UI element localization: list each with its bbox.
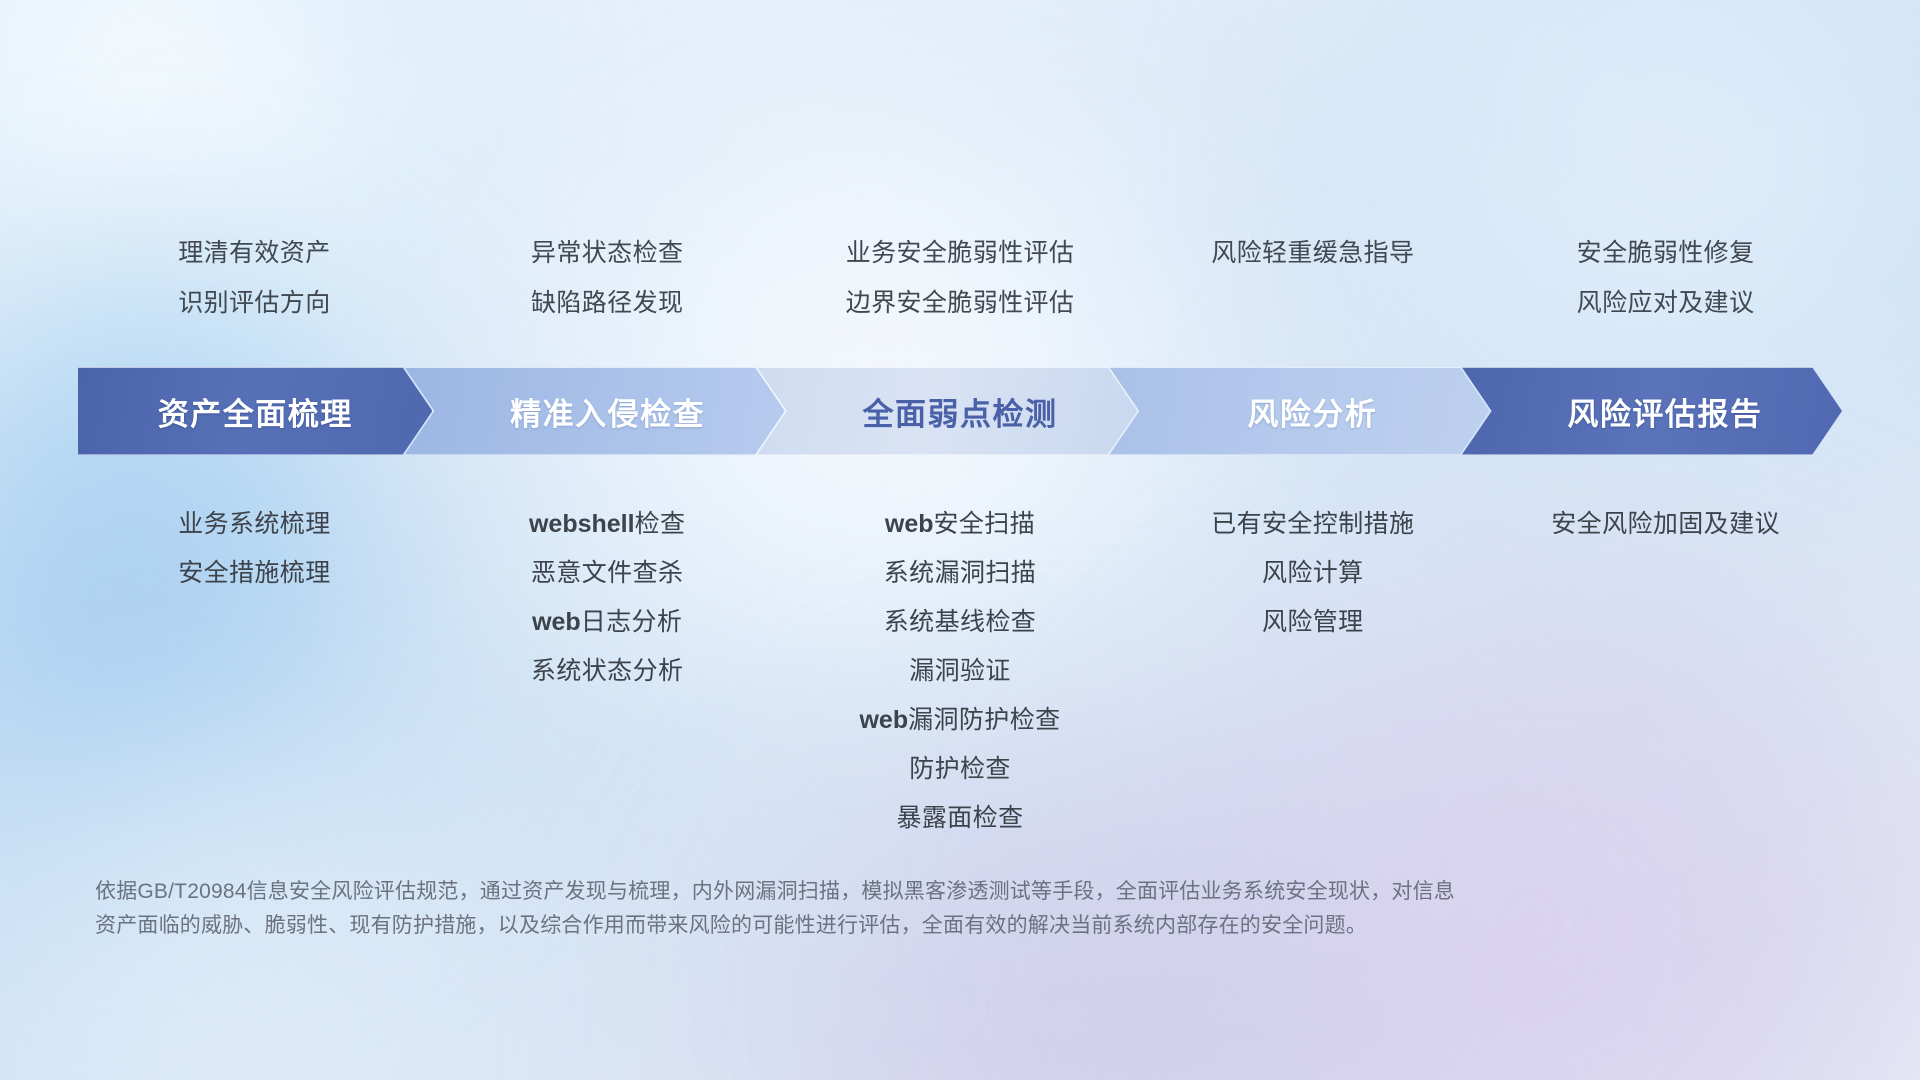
note-text: 系统基线检查: [784, 598, 1137, 647]
top-notes-risk-report: 安全脆弱性修复 风险应对及建议: [1489, 228, 1842, 328]
note-text: 恶意文件查杀: [431, 549, 784, 598]
caption-line-2: 资产面临的威胁、脆弱性、现有防护措施，以及综合作用而带来风险的可能性进行评估，全…: [95, 909, 1625, 943]
stage-arrow-label: 精准入侵检查: [510, 389, 705, 434]
stage-arrow-band: 资产全面梳理 精准入侵检查 全面弱点检测 风险分析 风险评估报告: [78, 367, 1842, 455]
note-text: 安全脆弱性修复: [1489, 228, 1842, 278]
note-text: web日志分析: [431, 598, 784, 647]
top-notes-weakness-detection: 业务安全脆弱性评估 边界安全脆弱性评估: [784, 228, 1137, 328]
stage-arrow-label: 全面弱点检测: [863, 389, 1058, 434]
note-text: 风险计算: [1136, 549, 1489, 598]
bottom-notes-weakness-detection: web安全扫描 系统漏洞扫描 系统基线检查 漏洞验证 web漏洞防护检查 防护检…: [784, 500, 1137, 843]
note-text: 系统状态分析: [431, 647, 784, 696]
note-text: 识别评估方向: [78, 278, 431, 328]
bottom-notes-risk-analysis: 已有安全控制措施 风险计算 风险管理: [1136, 500, 1489, 843]
note-text: 风险应对及建议: [1489, 278, 1842, 328]
note-text: 安全风险加固及建议: [1489, 500, 1842, 549]
note-text: 风险轻重缓急指导: [1136, 228, 1489, 278]
note-text: 风险管理: [1136, 598, 1489, 647]
note-text: 暴露面检查: [784, 794, 1137, 843]
stage-arrow-label: 风险分析: [1247, 389, 1377, 434]
bottom-notes-intrusion-check: webshell检查 恶意文件查杀 web日志分析 系统状态分析: [431, 500, 784, 843]
stage-arrow-weakness-detection[interactable]: 全面弱点检测: [757, 367, 1137, 455]
top-notes-intrusion-check: 异常状态检查 缺陷路径发现: [431, 228, 784, 328]
note-text: 缺陷路径发现: [431, 278, 784, 328]
note-text: 系统漏洞扫描: [784, 549, 1137, 598]
stage-arrow-label: 风险评估报告: [1567, 389, 1762, 434]
bottom-notes-asset-inventory: 业务系统梳理 安全措施梳理: [78, 500, 431, 843]
note-text: web安全扫描: [784, 500, 1137, 549]
stage-arrow-risk-report[interactable]: 风险评估报告: [1462, 367, 1842, 455]
top-notes-risk-analysis: 风险轻重缓急指导: [1136, 228, 1489, 328]
caption-block: 依据GB/T20984信息安全风险评估规范，通过资产发现与梳理，内外网漏洞扫描，…: [95, 875, 1625, 943]
process-diagram: 理清有效资产 识别评估方向 异常状态检查 缺陷路径发现 业务安全脆弱性评估 边界…: [0, 0, 1920, 1080]
note-text: 边界安全脆弱性评估: [784, 278, 1137, 328]
stage-arrow-label: 资产全面梳理: [158, 389, 353, 434]
note-text: 已有安全控制措施: [1136, 500, 1489, 549]
top-notes-row: 理清有效资产 识别评估方向 异常状态检查 缺陷路径发现 业务安全脆弱性评估 边界…: [78, 228, 1842, 328]
note-text: 理清有效资产: [78, 228, 431, 278]
note-text: 漏洞验证: [784, 647, 1137, 696]
note-text: webshell检查: [431, 500, 784, 549]
note-text: 业务系统梳理: [78, 500, 431, 549]
bottom-notes-risk-report: 安全风险加固及建议: [1489, 500, 1842, 843]
note-text: 防护检查: [784, 745, 1137, 794]
top-notes-asset-inventory: 理清有效资产 识别评估方向: [78, 228, 431, 328]
note-text: 异常状态检查: [431, 228, 784, 278]
stage-arrow-asset-inventory[interactable]: 资产全面梳理: [78, 367, 432, 455]
stage-arrow-intrusion-check[interactable]: 精准入侵检查: [404, 367, 784, 455]
bottom-notes-row: 业务系统梳理 安全措施梳理 webshell检查 恶意文件查杀 web日志分析 …: [78, 500, 1842, 843]
note-text: 业务安全脆弱性评估: [784, 228, 1137, 278]
stage-arrow-risk-analysis[interactable]: 风险分析: [1109, 367, 1489, 455]
note-text: web漏洞防护检查: [784, 696, 1137, 745]
caption-line-1: 依据GB/T20984信息安全风险评估规范，通过资产发现与梳理，内外网漏洞扫描，…: [95, 875, 1625, 909]
note-text: 安全措施梳理: [78, 549, 431, 598]
